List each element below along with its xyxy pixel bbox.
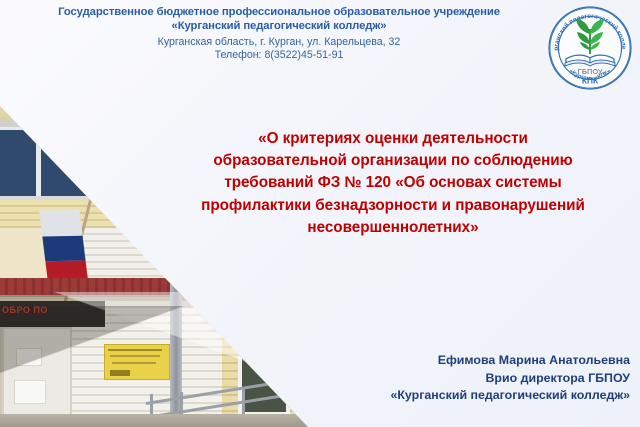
org-phone: Телефон: 8(3522)45-51-91 <box>24 49 534 62</box>
logo-svg: «Курганский педагогический колледж» «Кур… <box>546 4 634 92</box>
slide-author: Ефимова Марина Анатольевна Врио директор… <box>230 352 630 405</box>
institution-header-text: Государственное бюджетное профессиональн… <box>24 6 534 62</box>
college-logo-emblem: «Курганский педагогический колледж» «Кур… <box>546 4 634 92</box>
author-organization: «Курганский педагогический колледж» <box>230 387 630 405</box>
photo-door-notice-1 <box>16 348 42 366</box>
photo-ground <box>0 414 318 427</box>
photo-plate-line-1 <box>108 349 162 351</box>
photo-plate-line-2 <box>110 355 160 357</box>
title-line-3: требований ФЗ № 120 «Об основах системы <box>150 172 636 194</box>
presentation-slide: ОБРО ПО Го <box>0 0 640 427</box>
title-line-4: профилактики безнадзорности и правонаруш… <box>150 195 636 217</box>
org-name-line-1: Государственное бюджетное профессиональн… <box>24 6 534 19</box>
title-line-5: несовершеннолетних» <box>150 217 636 239</box>
author-name: Ефимова Марина Анатольевна <box>230 352 630 370</box>
slide-header: Государственное бюджетное профессиональн… <box>0 0 640 96</box>
org-name-line-2: «Курганский педагогический колледж» <box>24 20 534 33</box>
flag-stripe-blue <box>42 235 85 261</box>
photo-entrance-sign: ОБРО ПО <box>2 305 82 317</box>
photo-plate-line-3 <box>112 362 156 364</box>
title-line-2: образовательной организации по соблюдени… <box>150 150 636 172</box>
slide-title: «О критериях оценки деятельности образов… <box>150 128 636 239</box>
photo-entrance-door <box>2 327 72 427</box>
logo-abbr-kpk: КПК <box>582 76 599 86</box>
photo-plate-line-4 <box>110 370 130 376</box>
author-position: Врио директора ГБПОУ <box>230 370 630 388</box>
photo-door-notice-2 <box>14 380 46 404</box>
title-line-1: «О критериях оценки деятельности <box>150 128 636 150</box>
flag-stripe-white <box>39 210 82 236</box>
org-address: Курганская область, г. Курган, ул. Карел… <box>24 36 534 49</box>
